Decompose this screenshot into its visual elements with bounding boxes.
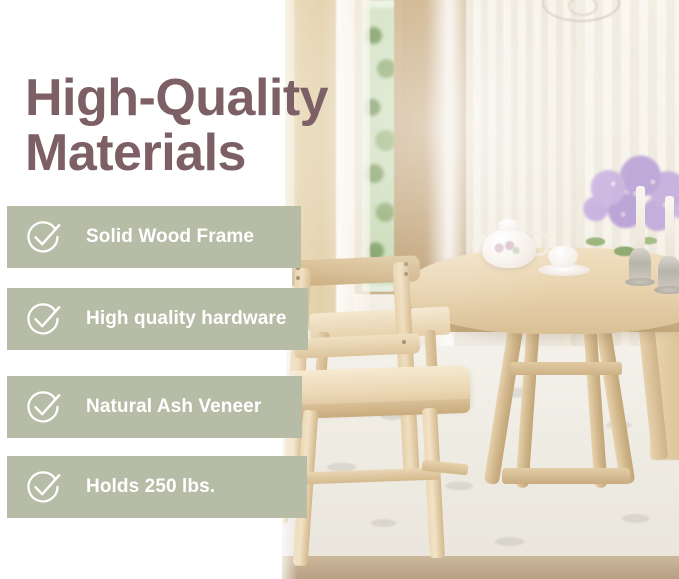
check-circle-icon: [24, 217, 64, 257]
page-title: High-Quality Materials: [25, 71, 355, 182]
teapot-floral-pattern: [494, 240, 520, 256]
candle-1: [636, 186, 645, 252]
lilac-floret-texture: [576, 155, 679, 251]
feature-badge-natural-ash-veneer: Natural Ash Veneer: [7, 376, 302, 438]
white-gap-2: [0, 350, 286, 376]
chair-screw: [402, 340, 406, 344]
teapot-lid: [498, 219, 520, 231]
feature-label: Holds 250 lbs.: [86, 476, 215, 498]
candlestick-holder-1: [629, 248, 651, 282]
candlestick-base-2: [654, 286, 679, 294]
wood-floor: [276, 556, 679, 579]
white-panel-bottom: [0, 518, 282, 579]
feature-label: High quality hardware: [86, 308, 287, 330]
feature-badge-solid-wood-frame: Solid Wood Frame: [7, 206, 301, 268]
product-feature-banner: High-Quality Materials Solid Wood Frame …: [0, 0, 679, 579]
candlestick-base-1: [625, 278, 655, 286]
candlestick-holder-2: [658, 256, 679, 290]
feature-badge-holds-250-lbs: Holds 250 lbs.: [7, 456, 307, 518]
check-circle-icon: [24, 387, 64, 427]
white-gap-3: [0, 438, 283, 458]
table-pedestal-foot: [502, 468, 630, 484]
window-mullion: [394, 0, 402, 294]
candle-2: [665, 196, 674, 256]
chair-screw: [296, 276, 300, 280]
chair-screw: [404, 272, 408, 276]
table-pedestal-crossbar: [510, 362, 622, 375]
white-gap-1: [0, 268, 292, 288]
chair-screw: [404, 262, 408, 266]
feature-label: Natural Ash Veneer: [86, 396, 261, 418]
feature-label: Solid Wood Frame: [86, 226, 254, 248]
check-circle-icon: [24, 299, 64, 339]
check-circle-icon: [24, 467, 64, 507]
feature-badge-high-quality-hardware: High quality hardware: [7, 288, 308, 350]
